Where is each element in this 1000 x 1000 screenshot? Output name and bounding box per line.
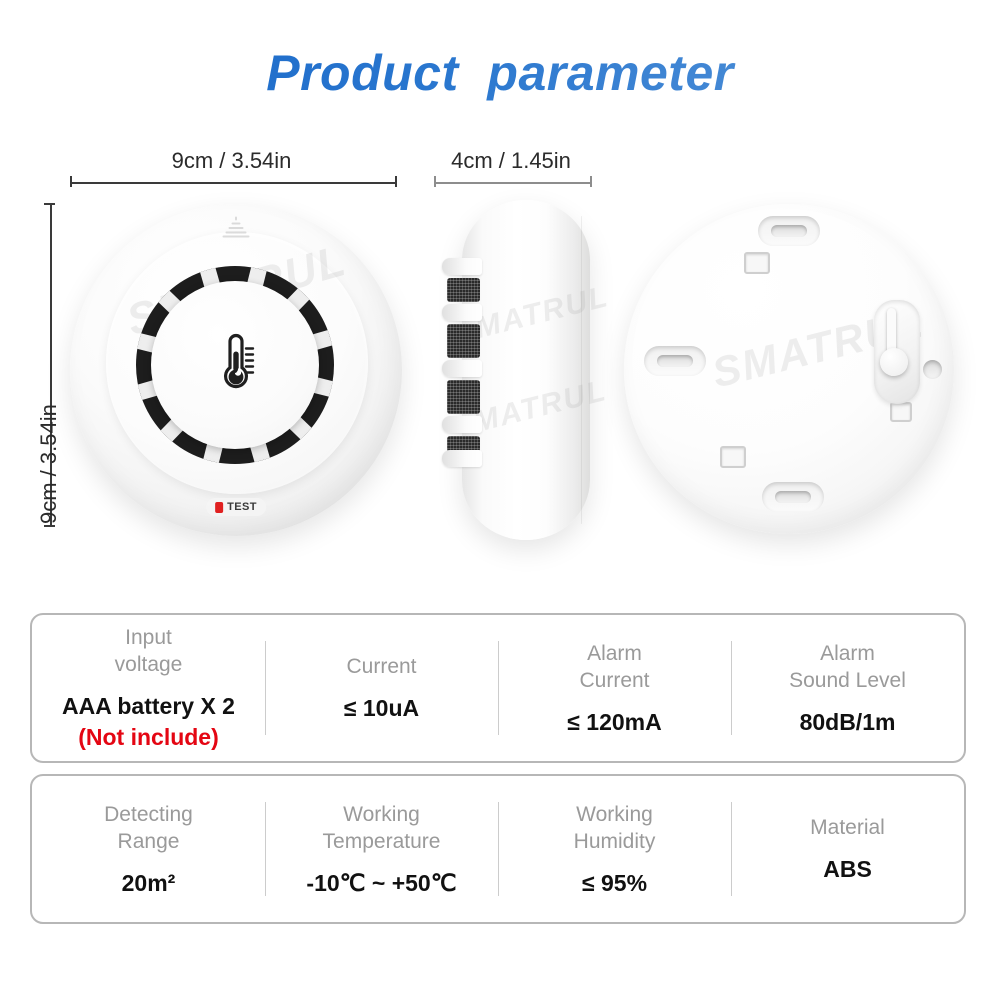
spec-value: 80dB/1m bbox=[800, 708, 896, 737]
spec-label: Alarm Current bbox=[579, 640, 649, 694]
spec-cell-working-humidity: Working Humidity ≤ 95% bbox=[498, 776, 731, 922]
dimension-label-front-width: 9cm / 3.54in bbox=[70, 148, 393, 174]
sonic-alarm-icon bbox=[219, 214, 253, 245]
spec-value: -10℃ ~ +50℃ bbox=[306, 869, 456, 898]
spec-value: ≤ 95% bbox=[582, 869, 647, 898]
keyhole-slot bbox=[657, 355, 693, 367]
spec-label: Current bbox=[346, 653, 416, 680]
keyhole-slot bbox=[771, 225, 807, 237]
side-vent-fin bbox=[442, 416, 482, 433]
spec-card-row-2: Detecting Range 20m² Working Temperature… bbox=[30, 774, 966, 924]
spec-cell-detecting-range: Detecting Range 20m² bbox=[32, 776, 265, 922]
side-vent-mesh bbox=[447, 278, 480, 302]
mounting-keyhole-top bbox=[758, 216, 820, 246]
spec-note: (Not include) bbox=[78, 723, 219, 752]
battery-clip-mark-top bbox=[744, 252, 770, 274]
spec-cell-alarm-sound-level: Alarm Sound Level 80dB/1m bbox=[731, 615, 964, 761]
spec-label: Detecting Range bbox=[104, 801, 193, 855]
dimension-label-side-width: 4cm / 1.45in bbox=[434, 148, 588, 174]
screw-hole bbox=[923, 360, 942, 379]
watermark-brand: MATRUL bbox=[472, 280, 613, 346]
spec-label: Material bbox=[810, 814, 885, 841]
front-vent-ring bbox=[136, 266, 334, 464]
spec-value: ABS bbox=[823, 855, 872, 884]
spec-card-row-1: Input voltage AAA battery X 2 (Not inclu… bbox=[30, 613, 966, 763]
spec-label: Alarm Sound Level bbox=[789, 640, 906, 694]
back-plate: SMATRUL bbox=[624, 204, 954, 534]
spec-label: Working Temperature bbox=[323, 801, 441, 855]
spec-cell-current: Current ≤ 10uA bbox=[265, 615, 498, 761]
spec-value: AAA battery X 2 bbox=[62, 692, 235, 721]
side-vent-fin bbox=[442, 360, 482, 377]
spec-cell-material: Material ABS bbox=[731, 776, 964, 922]
product-image-front-view: SMATRUL bbox=[62, 196, 410, 544]
page-title: Product parameter bbox=[0, 44, 1000, 102]
spec-cell-input-voltage: Input voltage AAA battery X 2 (Not inclu… bbox=[32, 615, 265, 761]
spec-label: Working Humidity bbox=[574, 801, 656, 855]
mounting-keyhole-left bbox=[644, 346, 706, 376]
thermometer-icon bbox=[212, 334, 258, 397]
side-vent-mesh bbox=[447, 324, 480, 358]
product-image-side-view: MATRUL MATRUL bbox=[440, 200, 590, 540]
mounting-keyhole-bottom bbox=[762, 482, 824, 512]
watermark-brand: MATRUL bbox=[470, 374, 611, 440]
dimension-rule-front-width bbox=[70, 176, 397, 187]
battery-clip-mark-right bbox=[890, 402, 912, 422]
spec-value: 20m² bbox=[122, 869, 176, 898]
dimension-rule-side-width bbox=[434, 176, 592, 187]
side-vent-fin bbox=[442, 450, 482, 467]
test-button[interactable]: TEST bbox=[206, 498, 266, 516]
product-image-back-view: SMATRUL bbox=[620, 198, 960, 542]
spec-label: Input voltage bbox=[115, 624, 183, 678]
test-indicator-dot bbox=[215, 502, 223, 513]
side-vent-fin bbox=[442, 304, 482, 321]
spec-cell-working-temperature: Working Temperature -10℃ ~ +50℃ bbox=[265, 776, 498, 922]
spec-value: ≤ 120mA bbox=[567, 708, 661, 737]
dimension-label-front-height: 9cm / 3.54in bbox=[36, 404, 62, 524]
side-seam-line bbox=[581, 216, 582, 524]
keyhole-slot bbox=[775, 491, 811, 503]
side-vent-mesh bbox=[447, 380, 480, 414]
test-label: TEST bbox=[227, 501, 257, 513]
mounting-latch-lever[interactable] bbox=[874, 300, 920, 404]
side-vent-grille bbox=[440, 260, 482, 470]
side-vent-fin bbox=[442, 258, 482, 275]
spec-cell-alarm-current: Alarm Current ≤ 120mA bbox=[498, 615, 731, 761]
spec-value: ≤ 10uA bbox=[344, 694, 419, 723]
battery-clip-mark-bottom bbox=[720, 446, 746, 468]
